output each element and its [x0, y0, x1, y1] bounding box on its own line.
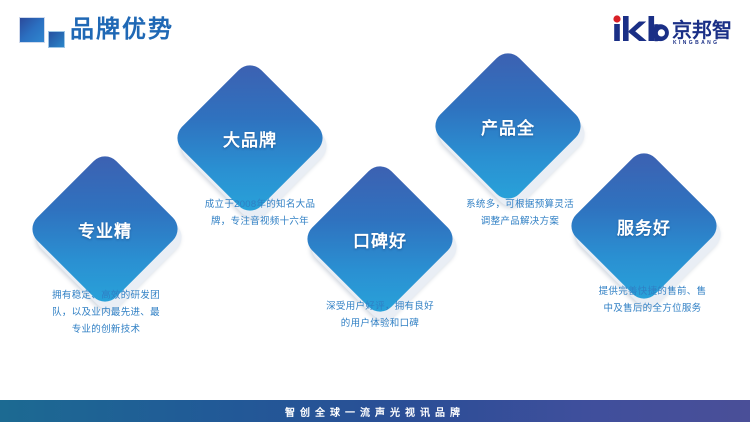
footer-bar: 智创全球一流声光视讯品牌 — [0, 400, 750, 422]
caption-line: 深受用户好评，拥有良好 — [300, 298, 460, 315]
square-icon-large — [19, 17, 45, 43]
svg-text:京邦智: 京邦智 — [672, 18, 732, 42]
footer-slogan: 智创全球一流声光视讯品牌 — [285, 404, 465, 419]
feature-caption: 拥有稳定、高效的研发团 队，以及业内最先进、最 专业的创新技术 — [21, 287, 191, 338]
logo-icon: 京邦智 KINGBANG — [610, 12, 738, 46]
feature-caption: 深受用户好评，拥有良好 的用户体验和口碑 — [300, 298, 460, 332]
diamond-face — [429, 47, 587, 205]
caption-line: 拥有稳定、高效的研发团 — [21, 287, 191, 304]
brand-logo: 京邦智 KINGBANG — [610, 12, 738, 46]
svg-text:KINGBANG: KINGBANG — [673, 40, 719, 46]
diamond-shape[interactable]: 产品全 — [452, 70, 564, 182]
diamond-face — [565, 147, 723, 305]
page-header: 品牌优势 京邦智 KINGBANG — [0, 0, 750, 60]
caption-line: 专业的创新技术 — [21, 321, 191, 338]
diamond-shape[interactable]: 服务好 — [588, 170, 700, 282]
caption-line: 中及售后的全方位服务 — [570, 300, 735, 317]
caption-line: 系统多，可根据预算灵活 — [440, 196, 600, 213]
feature-caption: 提供完善快捷的售前、售 中及售后的全方位服务 — [570, 283, 735, 317]
page-title: 品牌优势 — [70, 14, 174, 46]
caption-line: 提供完善快捷的售前、售 — [570, 283, 735, 300]
diamond-shape[interactable]: 口碑好 — [324, 183, 436, 295]
diamond-shape[interactable]: 大品牌 — [194, 82, 306, 194]
square-icon-small — [48, 31, 65, 48]
diamond-face — [171, 59, 329, 217]
caption-line: 队，以及业内最先进、最 — [21, 304, 191, 321]
caption-line: 成立于2008年的知名大品 — [180, 196, 340, 213]
diamond-face — [26, 150, 184, 308]
caption-line: 的用户体验和口碑 — [300, 315, 460, 332]
diamond-shape[interactable]: 专业精 — [49, 173, 161, 285]
diamond-face — [301, 160, 459, 318]
